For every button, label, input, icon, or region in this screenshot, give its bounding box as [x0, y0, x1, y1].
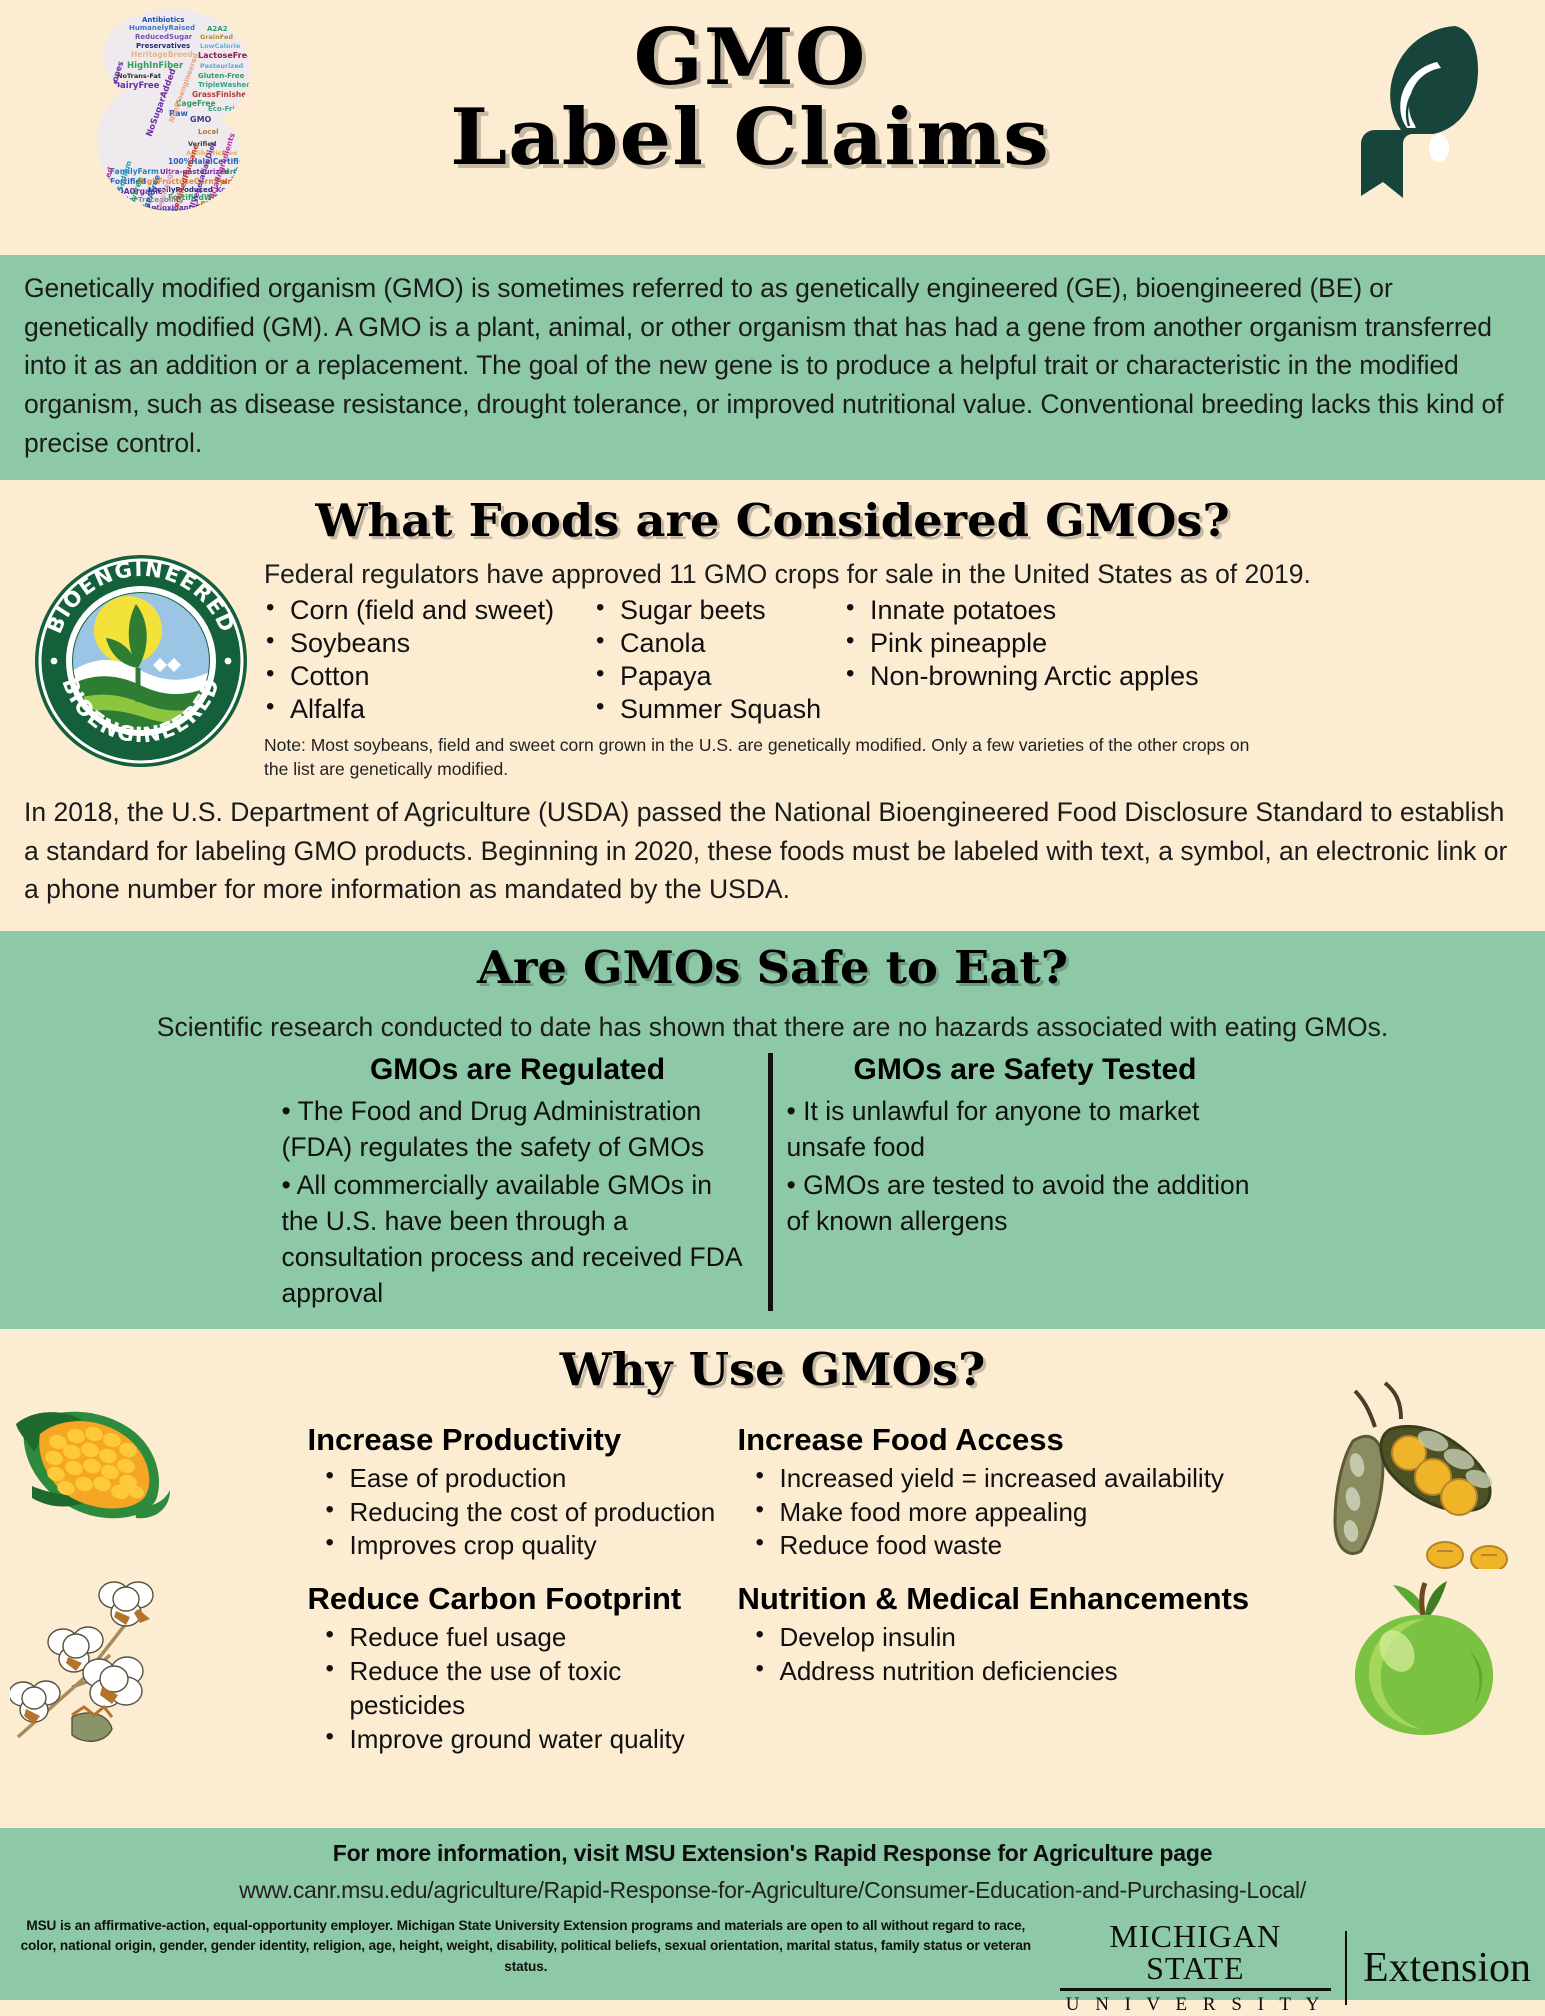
svg-text:Preservatives: Preservatives [136, 42, 190, 50]
safe-bullet: • It is unlawful for anyone to market un… [787, 1093, 1264, 1165]
svg-text:TripleWashed: TripleWashed [198, 81, 251, 89]
msu-rule [1060, 1988, 1331, 1991]
crop-item: Papaya [590, 660, 840, 693]
svg-text:GMO: GMO [190, 115, 212, 124]
why-block-title: Nutrition & Medical Enhancements [738, 1581, 1258, 1617]
crop-item: Corn (field and sweet) [260, 594, 590, 627]
why-item: Reduce the use of toxic pesticides [308, 1655, 728, 1723]
crop-column-2: Sugar beets Canola Papaya Summer Squash [590, 594, 840, 726]
crop-item: Summer Squash [590, 693, 840, 726]
crop-item: Non-browning Arctic apples [840, 660, 1200, 693]
msu-extension-lockup: MICHIGAN STATE U N I V E R S I T Y Exten… [1060, 1920, 1531, 2016]
crop-item: Innate potatoes [840, 594, 1200, 627]
svg-text:NoTrans-Fat: NoTrans-Fat [117, 72, 161, 80]
safe-column-regulated: GMOs are Regulated • The Food and Drug A… [268, 1053, 773, 1311]
svg-text:Antibiotics: Antibiotics [142, 16, 184, 24]
why-section: Why Use GMOs? [0, 1329, 1545, 1779]
foods-note: Note: Most soybeans, field and sweet cor… [250, 734, 1260, 781]
svg-text:DairyFree: DairyFree [113, 81, 160, 91]
svg-text:ReducedSugar: ReducedSugar [135, 33, 193, 41]
safe-column-title: GMOs are Regulated [282, 1053, 754, 1087]
intro-paragraph: Genetically modified organism (GMO) is s… [0, 255, 1545, 480]
svg-text:GrainFed: GrainFed [200, 33, 233, 41]
svg-text:Eco-Friendly: Eco-Friendly [208, 105, 257, 113]
why-block-title: Increase Productivity [308, 1422, 728, 1458]
food-label-claims-word-cloud: Antibiotics HumanelyRaised A2A2 ReducedS… [80, 8, 270, 213]
why-item: Improves crop quality [308, 1529, 728, 1563]
crop-item: Alfalfa [260, 693, 590, 726]
extension-wordmark: Extension [1347, 1947, 1531, 1989]
why-block-productivity: Increase Productivity Ease of production… [308, 1422, 728, 1563]
svg-text:FamilyFarm: FamilyFarm [110, 167, 159, 176]
crop-item: Pink pineapple [840, 627, 1200, 660]
crop-item: Canola [590, 627, 840, 660]
page-title: GMO Label Claims [300, 18, 1200, 177]
crop-column-3: Innate potatoes Pink pineapple Non-brown… [840, 594, 1200, 726]
svg-text:HeritageBreed: HeritageBreed [131, 50, 193, 59]
svg-text:NeverEver: NeverEver [200, 205, 241, 213]
crop-item: Sugar beets [590, 594, 840, 627]
svg-text:HumanelyRaised: HumanelyRaised [129, 24, 195, 32]
why-item: Develop insulin [738, 1621, 1258, 1655]
why-item: Make food more appealing [738, 1496, 1258, 1530]
why-item: Increased yield = increased availability [738, 1462, 1258, 1496]
why-block-carbon-footprint: Reduce Carbon Footprint Reduce fuel usag… [308, 1581, 728, 1756]
soybean-pods-illustration [1317, 1379, 1527, 1569]
why-heading: Why Use GMOs? [0, 1343, 1545, 1396]
svg-text:LowCalorie: LowCalorie [200, 42, 241, 50]
svg-text:Enhanced: Enhanced [94, 166, 115, 208]
svg-text:Less/More: Less/More [196, 199, 236, 207]
why-block-title: Increase Food Access [738, 1422, 1258, 1458]
safe-column-title: GMOs are Safety Tested [787, 1053, 1264, 1087]
crop-item: Soybeans [260, 627, 590, 660]
footer-headline: For more information, visit MSU Extensio… [0, 1840, 1545, 1867]
svg-text:A2A2: A2A2 [207, 25, 228, 33]
page-header: Antibiotics HumanelyRaised A2A2 ReducedS… [0, 0, 1545, 255]
usda-paragraph: In 2018, the U.S. Department of Agricult… [0, 781, 1545, 920]
why-item: Improve ground water quality [308, 1723, 728, 1757]
msu-wordmark: MICHIGAN STATE [1060, 1920, 1331, 1984]
msu-spartan-helmet-logo [1305, 18, 1505, 218]
why-item: Address nutrition deficiencies [738, 1655, 1258, 1689]
corn-cob-illustration [6, 1394, 174, 1529]
why-block-food-access: Increase Food Access Increased yield = i… [738, 1422, 1258, 1563]
page-footer: For more information, visit MSU Extensio… [0, 1828, 1545, 2000]
title-line-1: GMO [282, 18, 1218, 98]
foods-section: What Foods are Considered GMOs? [0, 480, 1545, 930]
why-block-title: Reduce Carbon Footprint [308, 1581, 728, 1617]
crop-item: Cotton [260, 660, 590, 693]
safe-bullet: • All commercially available GMOs in the… [282, 1167, 754, 1311]
safe-lead: Scientific research conducted to date ha… [0, 1012, 1545, 1043]
footer-url[interactable]: www.canr.msu.edu/agriculture/Rapid-Respo… [0, 1877, 1545, 1904]
why-block-nutrition-medical: Nutrition & Medical Enhancements Develop… [738, 1581, 1258, 1756]
svg-text:HighInFiber: HighInFiber [127, 61, 184, 71]
safe-bullet: • GMOs are tested to avoid the addition … [787, 1167, 1264, 1239]
svg-text:Non-GMOProjectVerified: Non-GMOProjectVerified [247, 117, 270, 213]
svg-text:GrassFinished: GrassFinished [192, 90, 252, 99]
safe-column-tested: GMOs are Safety Tested • It is unlawful … [773, 1053, 1278, 1311]
svg-text:Local: Local [198, 128, 219, 136]
svg-text:Pasteurized: Pasteurized [200, 62, 244, 70]
intro-band: Genetically modified organism (GMO) is s… [0, 255, 1545, 480]
why-item: Reducing the cost of production [308, 1496, 728, 1530]
svg-text:Breed: Breed [130, 207, 153, 213]
why-item: Reduce fuel usage [308, 1621, 728, 1655]
why-item: Ease of production [308, 1462, 728, 1496]
svg-text:GrassFed: GrassFed [108, 204, 145, 212]
foods-lead: Federal regulators have approved 11 GMO … [250, 559, 1510, 590]
svg-text:LactoseFree: LactoseFree [198, 51, 253, 60]
bioengineered-seal: BIOENGINEERED BIOENGINEERED [32, 552, 250, 770]
foods-heading: What Foods are Considered GMOs? [0, 494, 1545, 547]
crop-column-1: Corn (field and sweet) Soybeans Cotton A… [260, 594, 590, 726]
eeo-statement: MSU is an affirmative-action, equal-oppo… [14, 1916, 1038, 1977]
safe-section: Are GMOs Safe to Eat? Scientific researc… [0, 931, 1545, 1329]
why-item: Reduce food waste [738, 1529, 1258, 1563]
title-line-2: Label Claims [282, 98, 1218, 178]
green-apple-illustration [1329, 1579, 1519, 1739]
msu-university-text: U N I V E R S I T Y [1060, 1994, 1331, 2016]
svg-text:SmartChoice: SmartChoice [214, 193, 261, 201]
svg-text:Gluten-Free: Gluten-Free [198, 72, 245, 80]
safe-heading: Are GMOs Safe to Eat? [0, 941, 1545, 994]
gmo-crop-columns: Corn (field and sweet) Soybeans Cotton A… [250, 594, 1510, 726]
cotton-branch-illustration [10, 1559, 180, 1744]
svg-text:BoostsImmunity: BoostsImmunity [152, 207, 217, 213]
safe-bullet: • The Food and Drug Administration (FDA)… [282, 1093, 754, 1165]
svg-text:Organic: Organic [206, 208, 237, 213]
